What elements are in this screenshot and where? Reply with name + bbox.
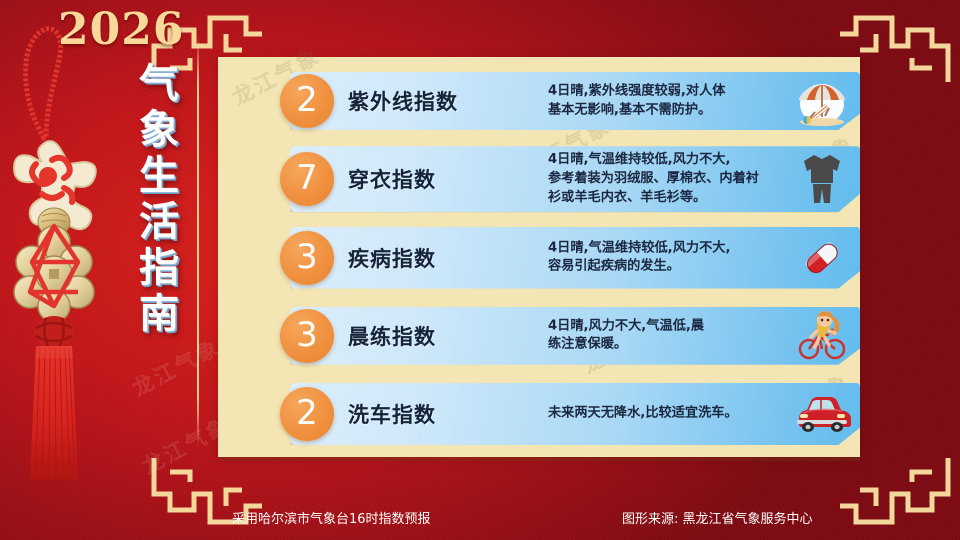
- index-value-badge: 3: [280, 231, 334, 285]
- index-description: 4日晴,风力不大,气温低,晨 练注意保暖。: [548, 317, 810, 354]
- index-value: 3: [296, 318, 318, 352]
- index-value-badge: 3: [280, 309, 334, 363]
- year-label: 2026: [58, 4, 184, 55]
- title-char-2: 生: [139, 156, 179, 196]
- red-car-icon: [792, 386, 852, 442]
- index-row-morning-exercise[interactable]: 3 晨练指数 4日晴,风力不大,气温低,晨 练注意保暖。: [280, 301, 854, 371]
- index-value-badge: 2: [280, 387, 334, 441]
- index-value: 7: [296, 161, 318, 195]
- title-char-4: 指: [139, 248, 179, 288]
- title-char-5: 南: [139, 294, 179, 334]
- panel-base-shadow: [218, 457, 860, 461]
- weather-life-index-poster: 2026 气 象 生 活 指 南 龙江气象 龙江气象 龙江气象 龙江气象 龙江气…: [0, 0, 960, 540]
- footer-source-left: 采用哈尔滨市气象台16时指数预报: [232, 508, 431, 527]
- beach-umbrella-icon: [792, 73, 852, 129]
- index-row-uv[interactable]: 2 紫外线指数 4日晴,紫外线强度较弱,对人体 基本无影响,基本不需防护。: [280, 66, 854, 136]
- gold-divider-rule: [197, 36, 199, 446]
- index-description: 4日晴,气温维持较低,风力不大, 参考着装为羽绒服、厚棉衣、内着衬 衫或羊毛内衣…: [548, 151, 810, 207]
- title-char-1: 象: [139, 110, 179, 150]
- index-name: 晨练指数: [348, 321, 436, 351]
- clothing-icon: [792, 151, 852, 207]
- page-title-vertical: 气 象 生 活 指 南: [128, 64, 190, 334]
- index-name: 穿衣指数: [348, 164, 436, 194]
- index-name: 紫外线指数: [348, 86, 458, 116]
- index-name: 洗车指数: [348, 399, 436, 429]
- gold-coins: [14, 226, 94, 322]
- index-row-car-wash[interactable]: 2 洗车指数 未来两天无降水,比较适宜洗车。: [280, 379, 854, 449]
- index-value: 2: [296, 396, 318, 430]
- index-value: 3: [296, 240, 318, 274]
- title-char-3: 活: [139, 202, 179, 242]
- chinese-knot-ornament: [2, 10, 112, 480]
- index-panel: 龙江气象 龙江气象 龙江气象 龙江气象 龙江气象 2 紫外线指数 4日晴,紫外线…: [218, 57, 860, 457]
- capsule-pill-icon: [792, 230, 852, 286]
- index-row-list: 2 紫外线指数 4日晴,紫外线强度较弱,对人体 基本无影响,基本不需防护。: [218, 57, 860, 457]
- index-description: 4日晴,气温维持较低,风力不大, 容易引起疾病的发生。: [548, 239, 810, 276]
- index-row-illness[interactable]: 3 疾病指数 4日晴,气温维持较低,风力不大, 容易引起疾病的发生。: [280, 223, 854, 293]
- index-value-badge: 2: [280, 74, 334, 128]
- index-name: 疾病指数: [348, 243, 436, 273]
- index-row-clothing[interactable]: 7 穿衣指数 4日晴,气温维持较低,风力不大, 参考着装为羽绒服、厚棉衣、内着衬…: [280, 144, 854, 214]
- index-description: 4日晴,紫外线强度较弱,对人体 基本无影响,基本不需防护。: [548, 82, 810, 119]
- title-char-0: 气: [139, 64, 179, 104]
- index-description: 未来两天无降水,比较适宜洗车。: [548, 405, 810, 424]
- index-value-badge: 7: [280, 152, 334, 206]
- index-value: 2: [296, 83, 318, 117]
- footer-source-right: 图形来源: 黑龙江省气象服务中心: [622, 508, 813, 527]
- cyclist-icon: [792, 308, 852, 364]
- watermark-red-1: 龙江气象: [127, 331, 226, 403]
- footer: 采用哈尔滨市气象台16时指数预报 图形来源: 黑龙江省气象服务中心: [0, 480, 960, 540]
